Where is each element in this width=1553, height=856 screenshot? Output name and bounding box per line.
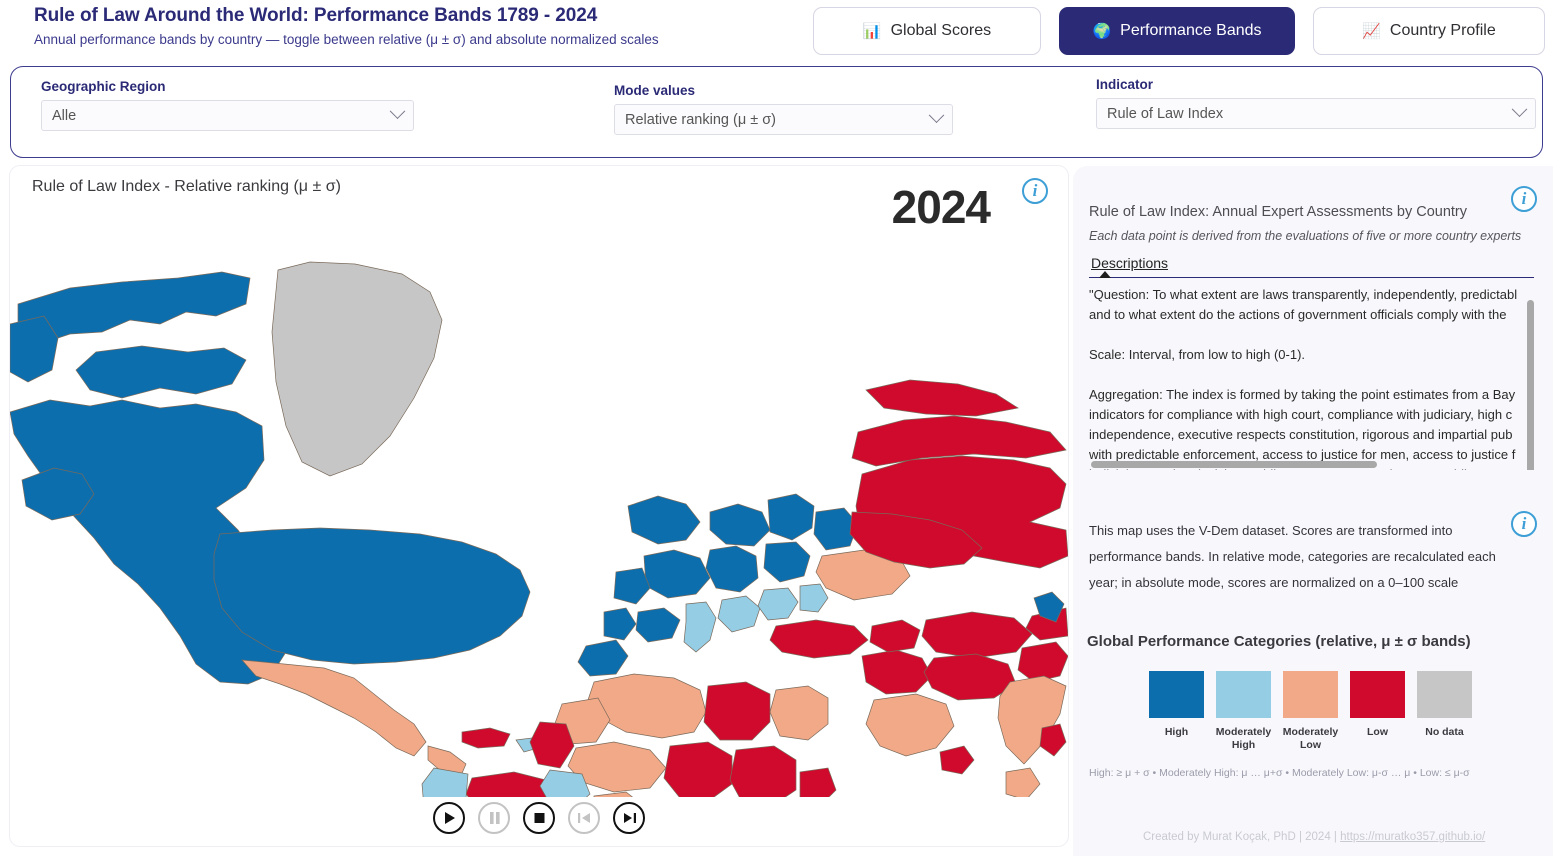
description-line: indicators for compliance with high cour…	[1089, 405, 1534, 425]
chevron-down-icon	[929, 107, 945, 123]
legend-label: High	[1143, 726, 1210, 739]
main-tabs: 📊 Global Scores 🌍 Performance Bands 📈 Co…	[813, 7, 1545, 55]
skip-backward-icon	[577, 811, 592, 825]
map-note: This map uses the V-Dem dataset. Scores …	[1089, 518, 1509, 596]
legend-item-moderately-high[interactable]: Moderately High	[1210, 671, 1277, 752]
spacer	[1089, 325, 1534, 345]
description-line: independence, executive respects constit…	[1089, 425, 1534, 445]
description-line: Aggregation: The index is formed by taki…	[1089, 385, 1534, 405]
stop-icon	[533, 811, 546, 825]
legend-item-high[interactable]: High	[1143, 671, 1210, 752]
line-chart-icon: 📈	[1362, 24, 1381, 39]
info-icon[interactable]: i	[1022, 178, 1048, 204]
playback-controls	[10, 802, 1068, 834]
panel-heading: Rule of Law Index: Annual Expert Assessm…	[1089, 204, 1467, 220]
play-button[interactable]	[433, 802, 465, 834]
globe-icon: 🌍	[1092, 24, 1111, 39]
tab-country-profile-label: Country Profile	[1390, 22, 1496, 40]
chevron-down-icon	[390, 103, 406, 119]
pause-button[interactable]	[478, 802, 510, 834]
play-icon	[443, 811, 456, 825]
legend-swatch	[1283, 671, 1338, 718]
legend-swatch	[1216, 671, 1271, 718]
legend-swatch	[1417, 671, 1472, 718]
region-select[interactable]: Alle	[41, 100, 414, 131]
footer-text: Created by Murat Koçak, PhD | 2024 |	[1143, 831, 1340, 843]
mode-select-value: Relative ranking (μ ± σ)	[625, 112, 776, 128]
tab-country-profile[interactable]: 📈 Country Profile	[1313, 7, 1545, 55]
app-header: Rule of Law Around the World: Performanc…	[0, 0, 1553, 62]
map-title: Rule of Law Index - Relative ranking (μ …	[32, 178, 341, 196]
descriptions-table: Descriptions "Question: To what extent a…	[1089, 251, 1541, 491]
page-title: Rule of Law Around the World: Performanc…	[34, 5, 659, 27]
mode-field: Mode values Relative ranking (μ ± σ)	[614, 83, 953, 135]
region-field: Geographic Region Alle	[41, 79, 414, 131]
info-icon[interactable]: i	[1511, 186, 1537, 212]
title-block: Rule of Law Around the World: Performanc…	[34, 5, 659, 47]
next-button[interactable]	[613, 802, 645, 834]
legend-label: Moderately High	[1210, 726, 1277, 752]
tab-performance-bands-label: Performance Bands	[1120, 22, 1261, 40]
map-card: Rule of Law Index - Relative ranking (μ …	[10, 166, 1068, 846]
horizontal-scrollbar[interactable]	[1091, 461, 1377, 468]
legend-footnote: High: ≥ μ + σ • Moderately High: μ … μ+σ…	[1089, 767, 1470, 779]
spacer	[1089, 365, 1534, 385]
region-select-value: Alle	[52, 108, 76, 124]
skip-forward-icon	[622, 811, 637, 825]
legend-swatch	[1149, 671, 1204, 718]
stop-button[interactable]	[523, 802, 555, 834]
mode-select[interactable]: Relative ranking (μ ± σ)	[614, 104, 953, 135]
descriptions-header-row[interactable]: Descriptions	[1089, 251, 1534, 278]
legend: High Moderately High Moderately Low Low …	[1143, 671, 1478, 752]
info-icon[interactable]: i	[1511, 511, 1537, 537]
panel-subheading: Each data point is derived from the eval…	[1089, 229, 1521, 243]
indicator-field: Indicator Rule of Law Index	[1096, 77, 1536, 129]
legend-label: Low	[1344, 726, 1411, 739]
indicator-select[interactable]: Rule of Law Index	[1096, 98, 1536, 129]
sort-ascending-icon	[1099, 271, 1111, 278]
mode-label: Mode values	[614, 83, 953, 98]
descriptions-body[interactable]: "Question: To what extent are laws trans…	[1089, 278, 1534, 470]
chevron-down-icon	[1512, 101, 1528, 117]
previous-button[interactable]	[568, 802, 600, 834]
legend-swatch	[1350, 671, 1405, 718]
footer-credit: Created by Murat Koçak, PhD | 2024 | htt…	[1143, 831, 1485, 843]
vertical-scrollbar[interactable]	[1527, 300, 1534, 470]
legend-label: Moderately Low	[1277, 726, 1344, 752]
description-line: "Question: To what extent are laws trans…	[1089, 285, 1534, 305]
region-label: Geographic Region	[41, 79, 414, 94]
legend-label: No data	[1411, 726, 1478, 739]
tab-global-scores[interactable]: 📊 Global Scores	[813, 7, 1041, 55]
indicator-label: Indicator	[1096, 77, 1536, 92]
legend-item-no-data[interactable]: No data	[1411, 671, 1478, 752]
legend-item-moderately-low[interactable]: Moderately Low	[1277, 671, 1344, 752]
side-panel: i Rule of Law Index: Annual Expert Asses…	[1073, 166, 1553, 856]
world-map[interactable]	[10, 212, 1068, 797]
description-line: and to what extent do the actions of gov…	[1089, 305, 1534, 325]
footer-link[interactable]: https://muratko357.github.io/	[1340, 831, 1485, 843]
tab-global-scores-label: Global Scores	[891, 22, 992, 40]
indicator-select-value: Rule of Law Index	[1107, 106, 1223, 122]
legend-title: Global Performance Categories (relative,…	[1087, 633, 1471, 650]
legend-item-low[interactable]: Low	[1344, 671, 1411, 752]
tab-performance-bands[interactable]: 🌍 Performance Bands	[1059, 7, 1295, 55]
filter-bar: Geographic Region Alle Mode values Relat…	[10, 66, 1543, 158]
page-subtitle: Annual performance bands by country — to…	[34, 32, 659, 47]
description-line: Scale: Interval, from low to high (0-1).	[1089, 345, 1534, 365]
pause-icon	[488, 811, 501, 825]
bar-chart-icon: 📊	[863, 24, 882, 39]
